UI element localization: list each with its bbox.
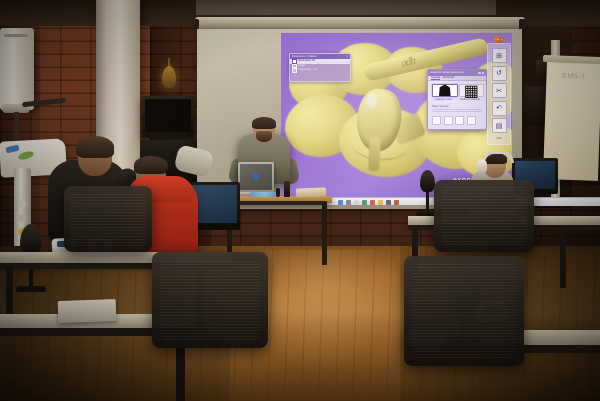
desk-lamp-stem — [426, 190, 429, 214]
presenter-desk-leg — [322, 203, 327, 265]
post-sticker — [18, 200, 26, 208]
media-icon[interactable] — [378, 200, 383, 205]
tooth-icon: ☗ — [432, 84, 458, 97]
post-sticker — [18, 214, 26, 222]
wall-unit-vent — [4, 34, 28, 37]
cad-object-row-link[interactable]: edit — [313, 68, 317, 73]
choice-label: Anatomic crown — [432, 98, 456, 101]
measure-icon[interactable]: ▤ — [492, 118, 507, 133]
floor-highlight — [250, 250, 400, 370]
mail-icon[interactable] — [362, 200, 367, 205]
pencil-icon[interactable] — [444, 116, 453, 125]
cad-dialog-window-controls[interactable] — [478, 72, 484, 74]
chair-mesh-back — [70, 192, 146, 246]
settings-icon[interactable] — [394, 200, 399, 205]
explorer-icon[interactable] — [346, 200, 351, 205]
desk-lamp-head — [420, 170, 435, 192]
cad-dialog-text-lines — [432, 109, 482, 112]
cad-object-panel[interactable]: Parameters / Objects ✕ Restoration 26 Mo… — [289, 53, 351, 82]
close-icon[interactable] — [482, 72, 484, 74]
brush-icon[interactable] — [432, 116, 441, 125]
headphones-band-icon — [482, 151, 514, 163]
desk-bottle — [284, 181, 290, 197]
undo-icon[interactable]: ↶ — [492, 101, 507, 116]
attendee-table-leg — [560, 228, 566, 288]
cad-dialog-title: Anatomic design parameters — [430, 71, 464, 74]
flipchart-handwriting: BMS-3 — [562, 72, 585, 81]
eraser-icon[interactable] — [455, 116, 464, 125]
choice-reduced-anatomic[interactable]: ▦ Reduced anatomic — [459, 84, 483, 101]
cad-object-row[interactable]: Preparation edit — [290, 68, 350, 73]
save-icon[interactable]: ⊞ — [492, 48, 507, 63]
headphones-earcup-icon — [477, 160, 487, 173]
tab-general[interactable]: General — [431, 76, 440, 80]
folder-icon[interactable] — [386, 200, 391, 205]
prep-post — [368, 137, 381, 172]
cad-vertical-toolbar[interactable]: ⊞ ↺ ✂ ↶ ▤ tools — [487, 43, 511, 145]
presenter-beard — [256, 131, 272, 142]
presenter-hair — [252, 117, 276, 129]
cad-dialog-body: Shape selection — [428, 103, 486, 114]
cad-icon[interactable] — [370, 200, 375, 205]
slider-size[interactable]: Size — [432, 129, 482, 130]
presenter-desk-apron — [227, 201, 327, 205]
cad-dialog-tools[interactable] — [428, 114, 486, 127]
abutment-icon: ▦ — [459, 84, 485, 97]
brass-wall-lamp — [162, 66, 176, 88]
browser-icon[interactable] — [354, 200, 359, 205]
wall-mounted-unit — [0, 28, 34, 110]
slider-label: Size — [432, 129, 436, 130]
cad-dialog-sliders[interactable]: Size Strength — [428, 127, 486, 130]
close-icon[interactable]: ✕ — [346, 54, 348, 59]
cad-dialog-section-label: Shape selection — [432, 105, 482, 108]
choice-anatomic-crown[interactable]: ☗ Anatomic crown — [432, 84, 456, 101]
laptop-logo-icon — [253, 173, 259, 179]
checkbox-icon[interactable] — [292, 68, 297, 73]
cad-object-row-label: Preparation — [298, 68, 311, 73]
cad-toolbar-footer-label: tools — [496, 137, 501, 140]
seminar-room-photo: BMS-3 adh Parameters / Objects ✕ Re — [0, 0, 600, 401]
ceiling-panel — [196, 0, 496, 15]
choice-label: Reduced anatomic — [459, 98, 483, 101]
chair-mesh-back — [441, 187, 527, 245]
scissors-icon[interactable]: ✂ — [492, 83, 507, 98]
minimize-icon[interactable] — [478, 72, 480, 74]
desk-microphone — [276, 188, 280, 197]
chair-mesh-back — [412, 264, 516, 358]
attendee-dark-jacket-hair — [76, 136, 114, 158]
background-monitor-screen — [145, 99, 191, 132]
windows-icon[interactable] — [338, 200, 343, 205]
tab-advanced[interactable]: Advanced — [443, 76, 454, 79]
desk-papers — [296, 187, 326, 197]
attendee-red-hoodie-hair — [134, 156, 168, 174]
foreground-notebook — [58, 299, 117, 323]
cad-dialog-choices[interactable]: ☗ Anatomic crown ▦ Reduced anatomic — [428, 81, 486, 103]
desk-lamp-base — [16, 286, 46, 292]
crown-highlight — [367, 93, 377, 109]
drag-handle-icon[interactable] — [487, 37, 509, 42]
cad-parameters-dialog[interactable]: Anatomic design parameters General Advan… — [427, 69, 487, 130]
chair-mesh-back — [160, 260, 260, 340]
wall-unit-pipe — [14, 112, 19, 142]
smooth-icon[interactable] — [467, 116, 476, 125]
rotate-left-icon[interactable]: ↺ — [492, 66, 507, 81]
